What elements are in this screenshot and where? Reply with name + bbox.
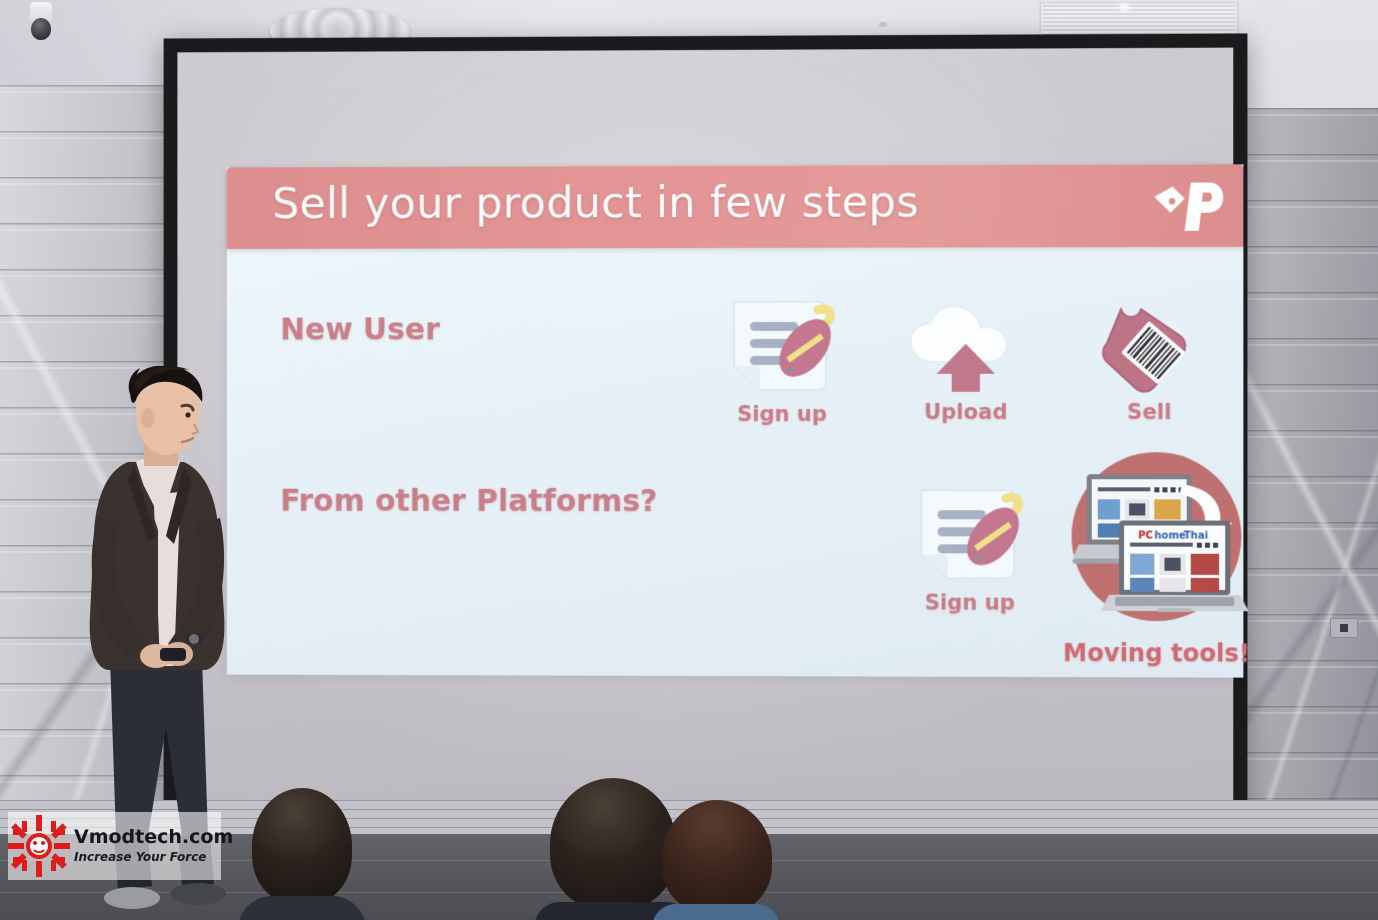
projection-screen-frame: Sell your product in few steps New User xyxy=(164,33,1248,820)
vmodtech-emblem-icon xyxy=(8,815,70,877)
step-caption: Sign up xyxy=(894,590,1045,614)
audience-member-left xyxy=(238,788,366,920)
watermark-tagline: Increase Your Force xyxy=(74,851,233,864)
recessed-light-icon xyxy=(1120,4,1129,11)
svg-text:Thai: Thai xyxy=(1184,531,1208,542)
price-tag-barcode-icon xyxy=(1091,295,1208,396)
row-label-new-user: New User xyxy=(280,312,440,347)
step-caption: Sell xyxy=(1074,400,1226,424)
projection-screen-surface: Sell your product in few steps New User xyxy=(177,48,1233,807)
step-caption: Sign up xyxy=(707,402,857,426)
watermark-title: Vmodtech.com xyxy=(74,828,233,848)
screenshot-root: Sell your product in few steps New User xyxy=(0,0,1378,920)
power-outlet-icon xyxy=(1330,618,1358,638)
svg-text:home: home xyxy=(1154,531,1186,542)
step-upload: Upload xyxy=(890,299,1041,424)
document-pen-icon xyxy=(909,484,1030,588)
document-pen-icon xyxy=(722,296,842,400)
audience-member-right xyxy=(652,800,780,920)
watermark: Vmodtech.com Increase Your Force xyxy=(8,812,221,880)
step-sign-up-platforms: Sign up xyxy=(894,484,1045,615)
slide: Sell your product in few steps New User xyxy=(227,164,1244,677)
row-label-from-other-platforms: From other Platforms? xyxy=(280,484,657,519)
step-sign-up: Sign up xyxy=(707,296,857,426)
svg-text:PC: PC xyxy=(1138,531,1153,542)
two-laptops-transfer-icon: PC home Thai xyxy=(1060,446,1252,637)
step-moving-tools: PC home Thai xyxy=(1045,446,1267,668)
step-caption: Upload xyxy=(890,400,1041,424)
pchome-tag-p-logo-icon xyxy=(1150,174,1225,237)
step-caption: Moving tools! xyxy=(1045,639,1267,668)
security-camera-dome-icon xyxy=(31,18,51,40)
slide-title: Sell your product in few steps xyxy=(272,177,919,229)
cloud-upload-icon xyxy=(902,300,1029,396)
sprinkler-head-icon xyxy=(879,22,887,27)
step-sell: Sell xyxy=(1074,295,1226,424)
